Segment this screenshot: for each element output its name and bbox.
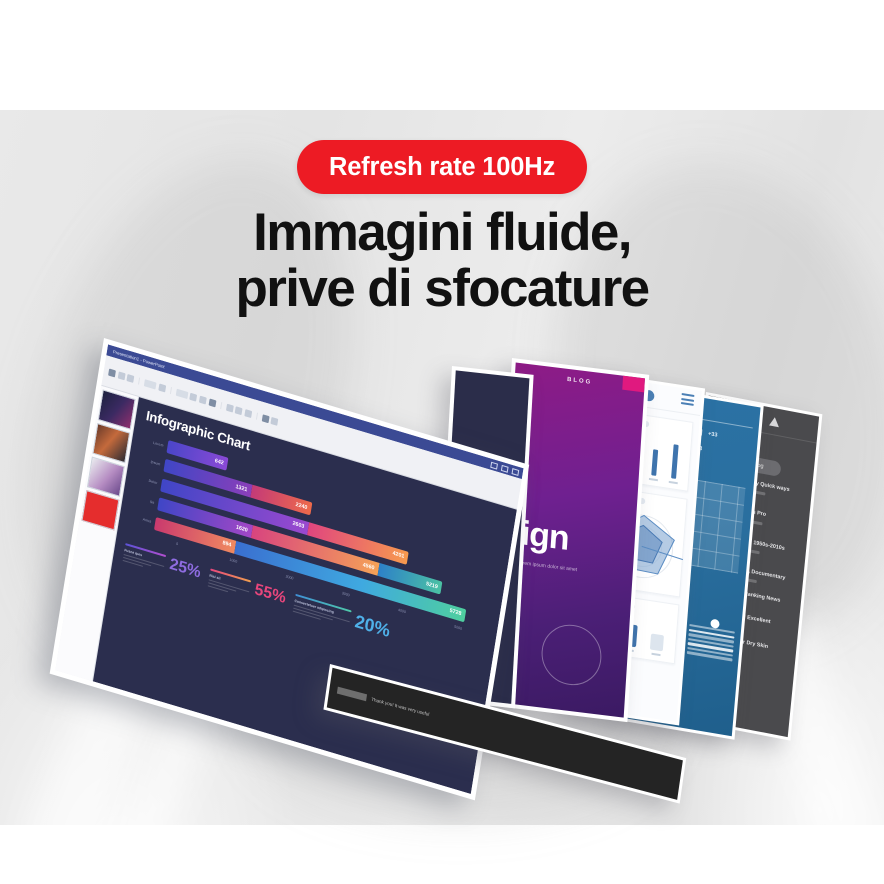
ribbon-group-slides[interactable] (144, 379, 172, 394)
bar-value: 5728 (449, 608, 462, 617)
bar-value: 2603 (292, 521, 305, 530)
text-column (686, 624, 735, 664)
bar-value: 1620 (236, 524, 249, 533)
bar (650, 634, 664, 652)
slide-thumbnail[interactable] (98, 389, 136, 429)
stat-delta: +33 (708, 431, 718, 439)
bar-value: 4201 (392, 551, 405, 560)
maximize-icon[interactable] (501, 464, 509, 472)
bar-value: 4560 (362, 562, 375, 571)
promo-graphic: Refresh rate 100Hz Immagini fluide, priv… (0, 0, 884, 884)
video-caption: Thank you! It was very useful (371, 696, 430, 716)
y-axis-label: Ipsum (139, 456, 165, 467)
bar-value: 894 (222, 540, 232, 549)
close-icon[interactable] (512, 468, 520, 476)
bar-value: 5219 (426, 581, 439, 590)
corner-accent (622, 376, 645, 393)
bell-icon (769, 416, 780, 427)
bar (651, 449, 658, 476)
minimize-icon[interactable] (490, 461, 498, 469)
slide-thumbnail[interactable] (92, 423, 130, 463)
stat-value: 20% (354, 612, 392, 640)
bar (671, 444, 679, 479)
y-axis-label: Dolor (136, 475, 162, 486)
y-axis-label: Sit (133, 494, 159, 505)
bar-value: 642 (214, 458, 224, 467)
ribbon-group-font[interactable] (176, 388, 222, 408)
decorative-circle (710, 619, 720, 629)
bar-value: 2240 (295, 502, 308, 511)
ribbon-group-drawing[interactable] (262, 414, 284, 427)
ribbon-group-paragraph[interactable] (226, 403, 258, 419)
screen-stack: Blog Bring on Blog! Easy Quick ways Writ… (0, 0, 884, 884)
ribbon-group-clipboard[interactable] (108, 368, 140, 384)
slide-thumbnail[interactable] (87, 456, 125, 496)
y-axis-label: Amet (130, 514, 156, 525)
stat-value: 55% (253, 582, 287, 607)
progress-bar[interactable] (337, 686, 367, 701)
hero-subtitle: Lorem ipsum dolor sit amet (517, 560, 577, 573)
decorative-circle (540, 621, 603, 688)
bar-value: 1321 (235, 484, 248, 493)
y-axis-label: Lorem (142, 437, 168, 448)
slide-thumbnail[interactable] (82, 490, 120, 530)
stat-value: 25% (168, 557, 202, 582)
hamburger-menu-icon[interactable] (681, 393, 695, 408)
